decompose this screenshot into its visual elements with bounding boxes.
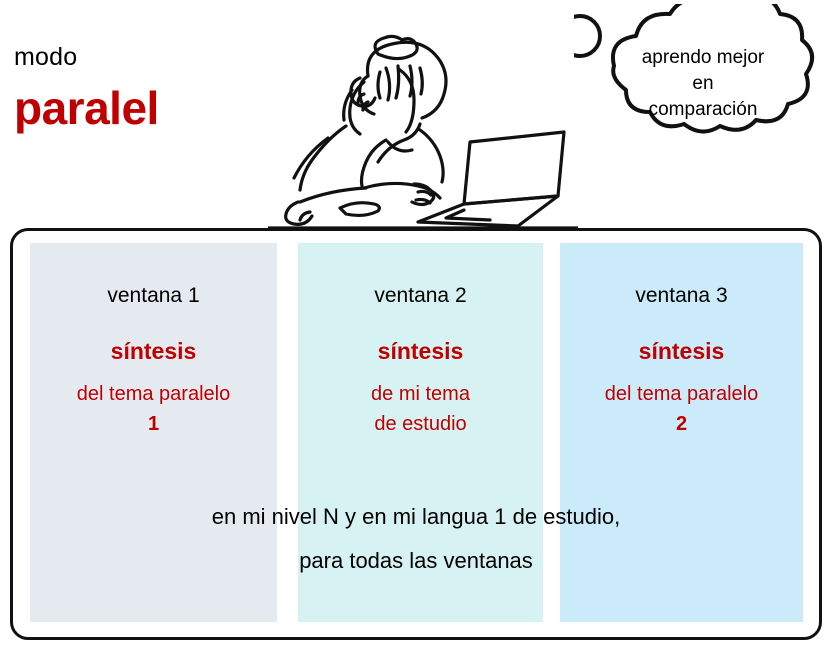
- column-content-2: ventana 2 síntesis de mi tema de estudio: [298, 243, 543, 439]
- title-block: modo paralel: [14, 42, 274, 136]
- detail-line-2a: de mi tema: [298, 379, 543, 409]
- mode-label: modo: [14, 42, 274, 72]
- detail-line-2b: de estudio: [298, 409, 543, 439]
- thought-line-1: aprendo mejor: [606, 45, 800, 71]
- footer-line-1: en mi nivel N y en mi langua 1 de estudi…: [10, 495, 822, 539]
- detail-line-3a: del tema paralelo: [560, 379, 803, 409]
- window-label-3: ventana 3: [560, 283, 803, 309]
- window-label-2: ventana 2: [298, 283, 543, 309]
- thought-line-2: en: [606, 71, 800, 97]
- synthesis-label-2: síntesis: [298, 337, 543, 365]
- detail-text-3: del tema paralelo 2: [560, 379, 803, 439]
- detail-text-2: de mi tema de estudio: [298, 379, 543, 439]
- detail-line-1b: 1: [30, 409, 277, 439]
- window-label-1: ventana 1: [30, 283, 277, 309]
- detail-text-1: del tema paralelo 1: [30, 379, 277, 439]
- person-thinking-at-laptop-illustration: [268, 6, 578, 232]
- footer-line-2: para todas las ventanas: [10, 539, 822, 583]
- thought-line-3: comparación: [606, 97, 800, 123]
- column-content-3: ventana 3 síntesis del tema paralelo 2: [560, 243, 803, 439]
- synthesis-label-3: síntesis: [560, 337, 803, 365]
- header-zone: modo paralel: [0, 0, 834, 232]
- detail-line-3b: 2: [560, 409, 803, 439]
- footer-note: en mi nivel N y en mi langua 1 de estudi…: [10, 495, 822, 583]
- synthesis-label-1: síntesis: [30, 337, 277, 365]
- mode-value: paralel: [14, 80, 274, 136]
- column-content-1: ventana 1 síntesis del tema paralelo 1: [30, 243, 277, 439]
- detail-line-1a: del tema paralelo: [30, 379, 277, 409]
- thought-bubble-text: aprendo mejor en comparación: [606, 45, 800, 123]
